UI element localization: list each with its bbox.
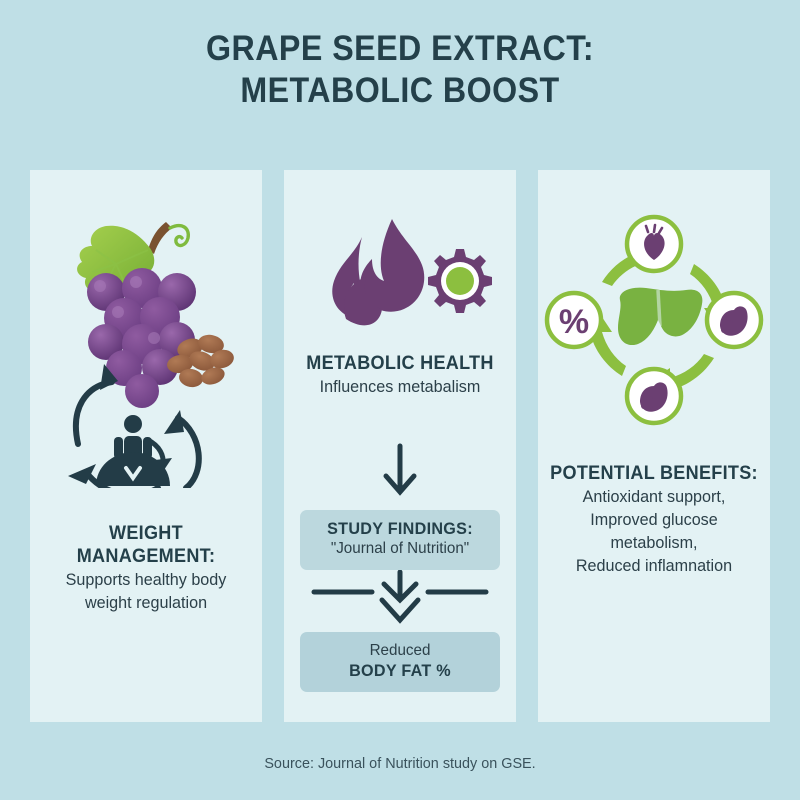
panel-potential-benefits: % POTENTIAL BENEFITS: Antioxidant suppor… — [538, 170, 770, 722]
weight-management-body-line-2: weight regulation — [42, 591, 251, 614]
weight-management-text: WEIGHT MANAGEMENT: Supports healthy body… — [36, 522, 256, 614]
title-line-2: METABOLIC BOOST — [32, 70, 768, 112]
benefits-cycle-diagram: % — [538, 208, 770, 433]
flame-icon — [332, 219, 424, 325]
page-title: GRAPE SEED EXTRACT: METABOLIC BOOST — [0, 28, 800, 112]
study-findings-body: "Journal of Nutrition" — [309, 539, 491, 559]
liver-icon — [618, 288, 702, 345]
panel-metabolic-health: METABOLIC HEALTH Influences metabalism S… — [284, 170, 516, 722]
potential-benefits-heading: POTENTIAL BENEFITS: — [546, 462, 763, 485]
potential-benefits-body-line-2: Improved glucose — [546, 508, 763, 531]
potential-benefits-artwork: % — [538, 208, 770, 433]
metabolic-health-text: METABOLIC HEALTH Influences metabalism — [290, 352, 510, 398]
panel-row: WEIGHT MANAGEMENT: Supports healthy body… — [30, 170, 770, 722]
study-findings-heading: STUDY FINDINGS: — [309, 519, 491, 539]
weight-management-artwork — [30, 188, 262, 488]
node-heart — [627, 217, 681, 271]
infographic-canvas: GRAPE SEED EXTRACT: METABOLIC BOOST — [0, 0, 800, 800]
node-muscle-right — [707, 293, 761, 347]
metabolic-health-heading: METABOLIC HEALTH — [296, 352, 505, 375]
grape-stem-icon — [148, 222, 188, 254]
potential-benefits-body-line-4: Reduced inflamnation — [546, 554, 763, 577]
potential-benefits-text: POTENTIAL BENEFITS: Antioxidant support,… — [540, 462, 768, 577]
double-chevron-arrow-icon — [284, 570, 516, 628]
reduced-body-fat-heading: BODY FAT % — [309, 661, 491, 681]
node-muscle-bottom — [627, 369, 681, 423]
reduced-body-fat-chip: Reduced BODY FAT % — [300, 632, 500, 692]
study-findings-chip: STUDY FINDINGS: "Journal of Nutrition" — [300, 510, 500, 570]
percent-icon: % — [559, 303, 589, 341]
metabolic-health-body-line-1: Influences metabalism — [296, 375, 505, 398]
grape-and-scale-illustration — [30, 188, 262, 488]
title-line-1: GRAPE SEED EXTRACT: — [32, 28, 768, 70]
reduced-body-fat-body: Reduced — [309, 641, 491, 661]
metabolic-health-artwork — [284, 215, 516, 345]
source-note: Source: Journal of Nutrition study on GS… — [16, 755, 784, 772]
potential-benefits-body-line-3: metabolism, — [546, 531, 763, 554]
down-arrow-icon — [284, 442, 516, 504]
weight-management-heading: WEIGHT MANAGEMENT: — [42, 522, 251, 568]
potential-benefits-body-line-1: Antioxidant support, — [546, 485, 763, 508]
flame-and-gear-illustration — [284, 215, 516, 345]
panel-weight-management: WEIGHT MANAGEMENT: Supports healthy body… — [30, 170, 262, 722]
gear-icon — [428, 249, 492, 313]
node-percent: % — [547, 293, 601, 347]
weight-management-body-line-1: Supports healthy body — [42, 568, 251, 591]
